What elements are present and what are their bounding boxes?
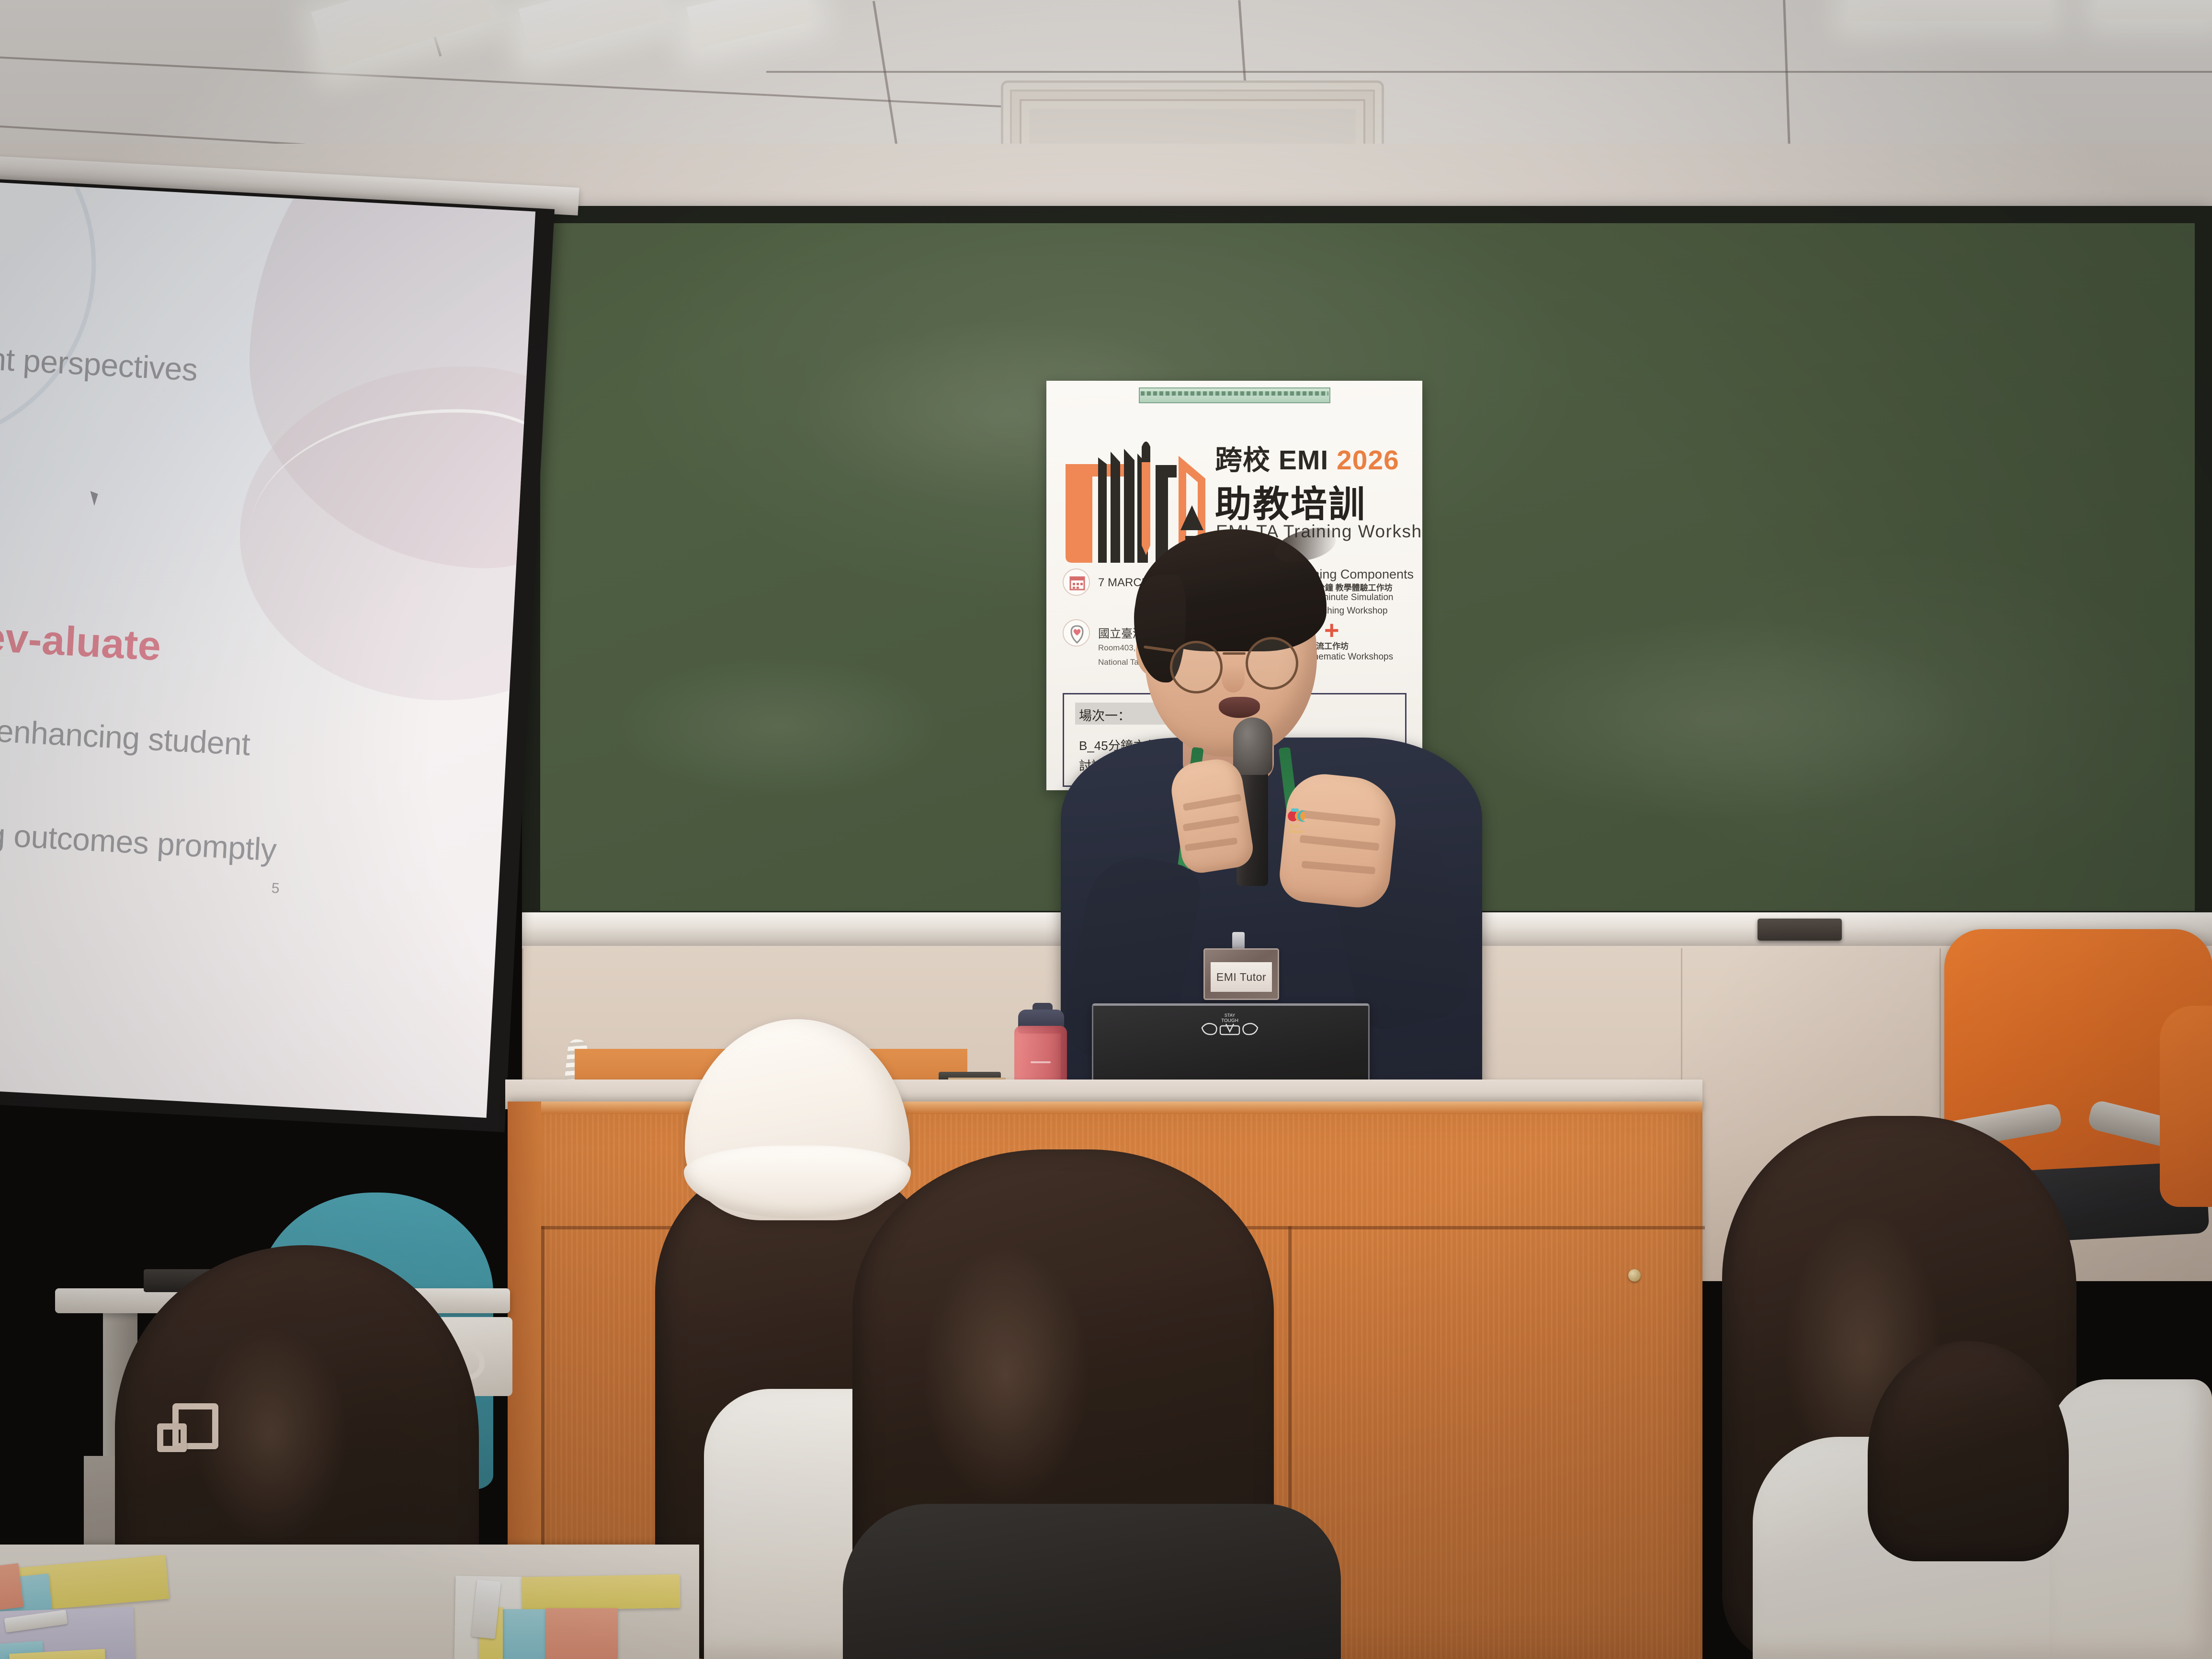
slide-heading: rs: Elev-aluate: [0, 608, 162, 670]
bottle-volume-mark: [1031, 1061, 1051, 1063]
badge-text: EMI Tutor: [1216, 971, 1266, 984]
booklet-yellow[interactable]: [522, 1574, 680, 1611]
hair-clip-rect-inner: [157, 1423, 187, 1452]
poster-component-b-en: Thematic Workshops: [1308, 652, 1393, 662]
poster-title-text: 跨校 EMI: [1215, 445, 1328, 476]
slide-bullet-line: llenged: [0, 388, 1, 430]
student-white-coat-sleeve: [2050, 1379, 2212, 1659]
name-badge-insert: EMI Tutor: [1211, 962, 1272, 992]
eyeglasses-bridge: [1223, 652, 1246, 655]
shirt-logo-icon: Acad Educa: [1284, 805, 1320, 834]
ceiling-tile-seam: [766, 71, 2212, 73]
student-dark-jacket: [843, 1504, 1341, 1659]
podium-ledge: [508, 1102, 1702, 1114]
microphone-head[interactable]: [1233, 717, 1272, 775]
hair-clip[interactable]: [158, 1403, 219, 1457]
eyeglasses-left-lens: [1170, 641, 1223, 693]
blackboard-scuff: [612, 654, 947, 798]
slide-content: different perspectives llenged rs: Elev-…: [0, 178, 535, 1118]
speaker-mouth: [1219, 697, 1260, 718]
projector-screen: different perspectives llenged rs: Elev-…: [0, 178, 535, 1118]
sticky-note[interactable]: [546, 1608, 618, 1659]
location-pin-icon: [1063, 619, 1090, 647]
svg-text:Acad: Acad: [1289, 824, 1300, 829]
sticker-line-2: TOUGH: [1221, 1018, 1238, 1023]
chair-orange-seatback[interactable]: [2160, 1006, 2212, 1207]
poster-title-cn: 跨校 EMI 2026: [1215, 438, 1399, 477]
poster-session-label: 場次一：: [1079, 705, 1131, 724]
slide-body-line: through enhancing student: [0, 706, 251, 762]
sticker-line-1: STAY: [1225, 1013, 1235, 1018]
slide-bullet-line: different perspectives: [0, 336, 198, 388]
blackboard-scuff: [1450, 616, 1977, 822]
stay-tough-sticker-icon: STAY TOUGH: [1196, 1011, 1263, 1037]
poster-tape-pattern: [1141, 391, 1328, 396]
blackboard-eraser[interactable]: [1758, 919, 1842, 941]
student-hair: [1868, 1341, 2069, 1561]
speaker-nose: [1222, 665, 1245, 693]
podium-door-knob[interactable]: [1628, 1269, 1641, 1282]
badge-clip: [1232, 932, 1245, 949]
hair-highlight: [919, 1240, 1092, 1509]
eyeglasses-right-lens: [1246, 637, 1298, 690]
slide-heading-accent: Elev-aluate: [0, 612, 162, 669]
mouse-cursor-icon: [91, 489, 101, 506]
ceiling-light: [2098, 0, 2212, 19]
svg-text:Educa: Educa: [1289, 829, 1303, 834]
ceiling-light: [1849, 0, 2050, 21]
slide-body-line: g/learning outcomes promptly: [0, 809, 277, 868]
lecture-hall-photo: different perspectives llenged rs: Elev-…: [0, 0, 2212, 1659]
slide-page-number: 5: [271, 880, 280, 897]
poster-year: 2026: [1337, 445, 1399, 476]
poster-subtitle-cn: 助教培訓: [1215, 475, 1366, 527]
poster-venue-en: National Ta: [1098, 658, 1139, 667]
calendar-icon: [1063, 568, 1090, 596]
